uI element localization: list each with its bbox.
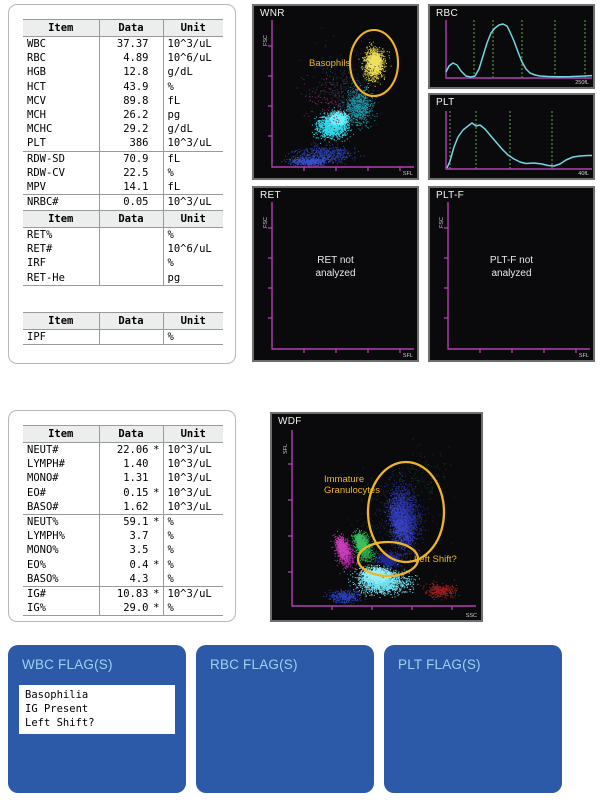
table-row: HGB12.8g/dL — [23, 65, 223, 79]
cell-data: 89.8 — [99, 94, 163, 108]
table-row: LYMPH#1.4010^3/uL — [23, 457, 223, 471]
cell-data — [99, 256, 163, 270]
table-row: MONO%3.5% — [23, 543, 223, 557]
rbc-flag-panel[interactable]: RBC FLAG(S) — [196, 645, 374, 793]
cell-unit: 10^3/uL — [163, 587, 223, 602]
table-row: HCT43.9% — [23, 80, 223, 94]
ret-title: RET — [260, 190, 281, 201]
plt-f-scattergram[interactable]: PLT-F FSC SFL PLT-F not analyzed — [428, 186, 595, 362]
table-row: EO#0.15*10^3/uL — [23, 486, 223, 500]
table-row: IRF% — [23, 256, 223, 270]
flag-item: IG Present — [25, 702, 169, 716]
wdf-title: WDF — [278, 416, 302, 427]
table-header-row: Item Data Unit — [23, 313, 223, 330]
plt-histogram[interactable]: PLT 40fL — [428, 93, 595, 180]
flag-item: Left Shift? — [25, 716, 169, 730]
cell-item: MCH — [23, 108, 99, 122]
abnormal-flag: * — [153, 515, 159, 529]
cell-data — [99, 271, 163, 286]
cell-unit: % — [163, 601, 223, 616]
wbc-flag-panel-title: WBC FLAG(S) — [22, 657, 113, 672]
cell-item: BASO% — [23, 572, 99, 587]
cell-unit: 10^3/uL — [163, 136, 223, 151]
cell-unit: 10^3/uL — [163, 486, 223, 500]
table-row: MCH26.2pg — [23, 108, 223, 122]
cell-data: 386 — [99, 136, 163, 151]
cbc-table: Item Data Unit WBC37.3710^3/uLRBC4.8910^… — [23, 19, 223, 225]
cell-item: IG# — [23, 587, 99, 602]
cell-unit: % — [163, 330, 223, 345]
table-row: NEUT#22.06*10^3/uL — [23, 443, 223, 458]
cell-item: MCV — [23, 94, 99, 108]
cell-data: 0.15* — [99, 486, 163, 500]
cell-item: MCHC — [23, 122, 99, 136]
cell-item: RDW-SD — [23, 151, 99, 166]
cell-item: MONO% — [23, 543, 99, 557]
abnormal-flag: * — [153, 486, 159, 500]
cell-item: RDW-CV — [23, 166, 99, 180]
cell-data: 59.1* — [99, 515, 163, 530]
table-row: WBC37.3710^3/uL — [23, 37, 223, 52]
wnr-y-axis-label: FSC — [263, 35, 269, 46]
table-row: NEUT%59.1*% — [23, 515, 223, 530]
column-header-data: Data — [99, 313, 163, 330]
table-row: MONO#1.3110^3/uL — [23, 471, 223, 485]
cell-unit: fL — [163, 180, 223, 195]
table-row: MCV89.8fL — [23, 94, 223, 108]
cell-unit: % — [163, 166, 223, 180]
cell-unit: 10^3/uL — [163, 195, 223, 210]
cell-item: IG% — [23, 601, 99, 616]
abnormal-flag: * — [153, 558, 159, 572]
cell-unit: fL — [163, 94, 223, 108]
cell-unit: 10^3/uL — [163, 443, 223, 458]
analyzer-results-page: Item Data Unit WBC37.3710^3/uLRBC4.8910^… — [0, 0, 600, 802]
table-row: BASO%4.3% — [23, 572, 223, 587]
wdf-plot-canvas — [272, 414, 483, 622]
cell-unit: g/dL — [163, 65, 223, 79]
table-row: NRBC#0.0510^3/uL — [23, 195, 223, 210]
cell-data: 26.2 — [99, 108, 163, 122]
cell-unit: % — [163, 515, 223, 530]
ret-not-analyzed-message: RET not analyzed — [254, 254, 417, 280]
cell-data: 29.0* — [99, 601, 163, 616]
cell-data: 10.83* — [99, 587, 163, 602]
cell-data: 22.5 — [99, 166, 163, 180]
wdf-x-axis-label: SSC — [466, 613, 477, 619]
column-header-unit: Unit — [163, 211, 223, 228]
cell-item: NEUT% — [23, 515, 99, 530]
table-row: IG%29.0*% — [23, 601, 223, 616]
cell-data: 1.31 — [99, 471, 163, 485]
cell-data — [99, 242, 163, 256]
table-row: MCHC29.2g/dL — [23, 122, 223, 136]
table-row: PLT38610^3/uL — [23, 136, 223, 151]
table-row: RET%% — [23, 228, 223, 243]
cell-data — [99, 330, 163, 345]
column-header-unit: Unit — [163, 426, 223, 443]
table-row: MPV14.1fL — [23, 180, 223, 195]
column-header-item: Item — [23, 426, 99, 443]
table-header-row: Item Data Unit — [23, 20, 223, 37]
cell-item: EO% — [23, 558, 99, 572]
rbc-title: RBC — [436, 8, 458, 19]
cell-item: EO# — [23, 486, 99, 500]
cell-item: PLT — [23, 136, 99, 151]
cell-item: HCT — [23, 80, 99, 94]
cell-item: RET-He — [23, 271, 99, 286]
table-header-row: Item Data Unit — [23, 211, 223, 228]
cell-unit: % — [163, 529, 223, 543]
table-row: RBC4.8910^6/uL — [23, 51, 223, 65]
cell-unit: 10^6/uL — [163, 51, 223, 65]
abnormal-flag: * — [153, 601, 159, 615]
ret-y-axis-label: FSC — [263, 217, 269, 228]
cell-data: 37.37 — [99, 37, 163, 52]
rbc-x-axis-label: 250fL — [575, 80, 589, 86]
ret-x-axis-label: SFL — [403, 353, 413, 359]
abnormal-flag: * — [153, 443, 159, 457]
cell-data: 1.40 — [99, 457, 163, 471]
wnr-plot-canvas — [254, 6, 419, 180]
plt-f-x-axis-label: SFL — [579, 353, 589, 359]
wdf-immature-granulocytes-annotation: Immature Granulocytes — [324, 474, 380, 496]
cell-unit: % — [163, 543, 223, 557]
cell-item: RBC — [23, 51, 99, 65]
wnr-basophils-annotation: Basophils — [309, 58, 350, 69]
cell-data: 14.1 — [99, 180, 163, 195]
cell-item: LYMPH% — [23, 529, 99, 543]
cell-data: 4.3 — [99, 572, 163, 587]
diff-table-card: Item Data Unit NEUT#22.06*10^3/uLLYMPH#1… — [8, 410, 236, 622]
table-row: LYMPH%3.7% — [23, 529, 223, 543]
table-header-row: Item Data Unit — [23, 426, 223, 443]
ret-table: Item Data Unit RET%%RET#10^6/uLIRF%RET-H… — [23, 210, 223, 286]
cell-item: HGB — [23, 65, 99, 79]
plt-plot-canvas — [430, 95, 595, 180]
cell-data: 43.9 — [99, 80, 163, 94]
table-row: RDW-CV22.5% — [23, 166, 223, 180]
cell-data: 0.05 — [99, 195, 163, 210]
cell-unit: pg — [163, 271, 223, 286]
cell-unit: 10^3/uL — [163, 471, 223, 485]
abnormal-flag: * — [153, 587, 159, 601]
cell-data: 1.62 — [99, 500, 163, 515]
cell-data: 3.5 — [99, 543, 163, 557]
cell-item: NRBC# — [23, 195, 99, 210]
cell-unit: 10^6/uL — [163, 242, 223, 256]
plt-title: PLT — [436, 97, 455, 108]
column-header-item: Item — [23, 211, 99, 228]
ret-scattergram[interactable]: RET FSC SFL RET not analyzed — [252, 186, 419, 362]
cell-unit: 10^3/uL — [163, 37, 223, 52]
cell-item: LYMPH# — [23, 457, 99, 471]
cell-data — [99, 228, 163, 243]
cell-item: WBC — [23, 37, 99, 52]
cell-item: IPF — [23, 330, 99, 345]
plt-f-title: PLT-F — [436, 190, 464, 201]
wdf-y-axis-label: SFL — [283, 444, 289, 454]
diff-table: Item Data Unit NEUT#22.06*10^3/uLLYMPH#1… — [23, 425, 223, 616]
cell-unit: % — [163, 572, 223, 587]
table-row: IG#10.83*10^3/uL — [23, 587, 223, 602]
column-header-item: Item — [23, 313, 99, 330]
cell-item: IRF — [23, 256, 99, 270]
cell-item: NEUT# — [23, 443, 99, 458]
cell-data: 0.4* — [99, 558, 163, 572]
cell-item: MONO# — [23, 471, 99, 485]
wbc-flag-panel[interactable]: WBC FLAG(S) BasophiliaIG PresentLeft Shi… — [8, 645, 186, 793]
cell-item: MPV — [23, 180, 99, 195]
plt-x-axis-label: 40fL — [578, 171, 589, 177]
cbc-tables-card: Item Data Unit WBC37.3710^3/uLRBC4.8910^… — [8, 4, 236, 364]
cell-data: 12.8 — [99, 65, 163, 79]
plt-flag-panel[interactable]: PLT FLAG(S) — [384, 645, 562, 793]
table-row: RET-Hepg — [23, 271, 223, 286]
column-header-item: Item — [23, 20, 99, 37]
wdf-scattergram[interactable]: WDF SFL SSC Immature Granulocytes Left S… — [270, 412, 483, 622]
plt-flag-panel-title: PLT FLAG(S) — [398, 657, 481, 672]
cell-unit: % — [163, 256, 223, 270]
wdf-left-shift-annotation: Left Shift? — [414, 554, 457, 565]
cell-unit: % — [163, 228, 223, 243]
cell-data: 22.06* — [99, 443, 163, 458]
column-header-data: Data — [99, 426, 163, 443]
cell-data: 70.9 — [99, 151, 163, 166]
cell-item: RET# — [23, 242, 99, 256]
cell-data: 29.2 — [99, 122, 163, 136]
table-row: RET#10^6/uL — [23, 242, 223, 256]
cell-unit: 10^3/uL — [163, 457, 223, 471]
cell-unit: g/dL — [163, 122, 223, 136]
cell-unit: % — [163, 80, 223, 94]
plt-f-y-axis-label: FSC — [439, 217, 445, 228]
table-row: EO%0.4*% — [23, 558, 223, 572]
ipf-table: Item Data Unit IPF% — [23, 312, 223, 345]
column-header-unit: Unit — [163, 313, 223, 330]
cell-unit: % — [163, 558, 223, 572]
rbc-flag-panel-title: RBC FLAG(S) — [210, 657, 298, 672]
cell-unit: fL — [163, 151, 223, 166]
wnr-title: WNR — [260, 8, 285, 19]
plt-f-not-analyzed-message: PLT-F not analyzed — [430, 254, 593, 280]
table-row: BASO#1.6210^3/uL — [23, 500, 223, 515]
wbc-flag-list: BasophiliaIG PresentLeft Shift? — [19, 685, 175, 734]
wnr-scattergram[interactable]: WNR FSC SFL Basophils — [252, 4, 419, 180]
rbc-histogram[interactable]: RBC 250fL — [428, 4, 595, 89]
column-header-data: Data — [99, 20, 163, 37]
wnr-x-axis-label: SFL — [403, 171, 413, 177]
column-header-unit: Unit — [163, 20, 223, 37]
table-row: IPF% — [23, 330, 223, 345]
cell-data: 3.7 — [99, 529, 163, 543]
cell-item: BASO# — [23, 500, 99, 515]
table-row: RDW-SD70.9fL — [23, 151, 223, 166]
flag-item: Basophilia — [25, 688, 169, 702]
cell-item: RET% — [23, 228, 99, 243]
cell-data: 4.89 — [99, 51, 163, 65]
cell-unit: pg — [163, 108, 223, 122]
column-header-data: Data — [99, 211, 163, 228]
cell-unit: 10^3/uL — [163, 500, 223, 515]
